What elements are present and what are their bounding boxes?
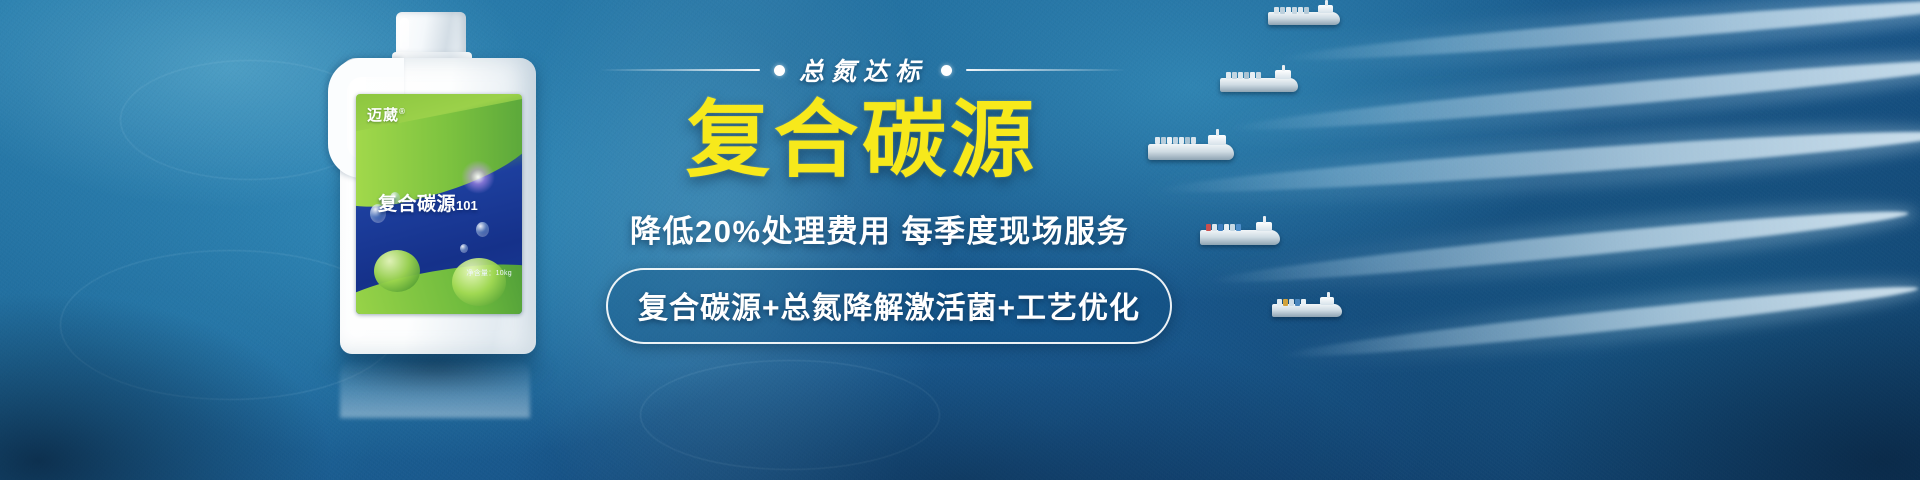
jerrycan: 迈葳® 复合碳源101 净含量：10kg 江苏迈葳环保科技有限公司 地址：江苏省… [322,12,544,362]
promo-banner: 迈葳® 复合碳源101 净含量：10kg 江苏迈葳环保科技有限公司 地址：江苏省… [0,0,1920,480]
subheadline: 降低20%处理费用 每季度现场服务 [630,206,1129,251]
product-reflection [340,360,530,418]
product-brand: 迈葳® [367,104,406,125]
feature-pill: 复合碳源+总氮降解激活菌+工艺优化 [606,268,1172,344]
feature-pill-text: 复合碳源+总氮降解激活菌+工艺优化 [638,292,1140,325]
product-image: 迈葳® 复合碳源101 净含量：10kg 江苏迈葳环保科技有限公司 地址：江苏省… [310,8,560,468]
wake-trail [1281,279,1920,366]
registered-mark: ® [399,107,406,116]
product-label: 迈葳® 复合碳源101 净含量：10kg 江苏迈葳环保科技有限公司 地址：江苏省… [356,94,522,314]
label-bubble [476,222,489,237]
headline: 复合碳源 [686,98,1038,182]
eyebrow-rule-left [600,69,760,71]
product-label-title: 复合碳源101 [378,189,478,216]
eyebrow-row: 总氮达标 [600,52,1160,88]
bottle-cap [396,12,466,56]
eyebrow-rule-right [966,69,1126,71]
label-green-sphere [374,250,420,292]
product-net-weight: 净含量：10kg [466,268,512,278]
label-green-sphere [452,258,506,306]
dot-icon [774,65,785,76]
wake-trail [1211,203,1910,292]
dot-icon [941,65,952,76]
banner-copy: 总氮达标 复合碳源 降低20%处理费用 每季度现场服务 复合碳源+总氮降解激活菌… [600,0,1220,480]
label-bubble [460,244,468,253]
eyebrow-text: 总氮达标 [799,52,927,88]
product-brand-text: 迈葳 [367,107,399,124]
product-label-code: 101 [456,198,478,213]
product-label-title-text: 复合碳源 [378,194,456,215]
